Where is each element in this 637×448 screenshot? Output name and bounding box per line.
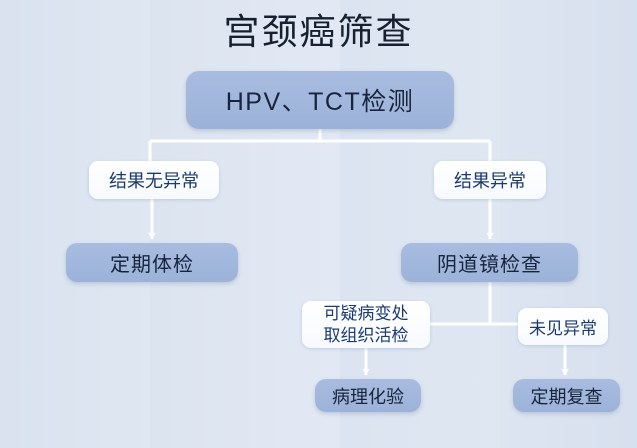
node-pathology-test[interactable]: 病理化验 <box>315 379 421 412</box>
edge-label-suspicious-biopsy: 可疑病变处 取组织活检 <box>302 301 430 348</box>
edge-label-result-abnormal: 结果异常 <box>434 161 546 199</box>
node-colposcopy[interactable]: 阴道镜检查 <box>401 243 578 282</box>
node-hpv-tct-test[interactable]: HPV、TCT检测 <box>186 71 454 129</box>
flowchart-canvas: 宫颈癌筛查 <box>0 0 637 448</box>
node-regular-recheck[interactable]: 定期复查 <box>513 379 620 412</box>
edge-label-result-normal: 结果无异常 <box>89 161 219 199</box>
node-regular-checkup[interactable]: 定期体检 <box>66 243 238 282</box>
edge-label-no-finding: 未见异常 <box>518 308 608 345</box>
